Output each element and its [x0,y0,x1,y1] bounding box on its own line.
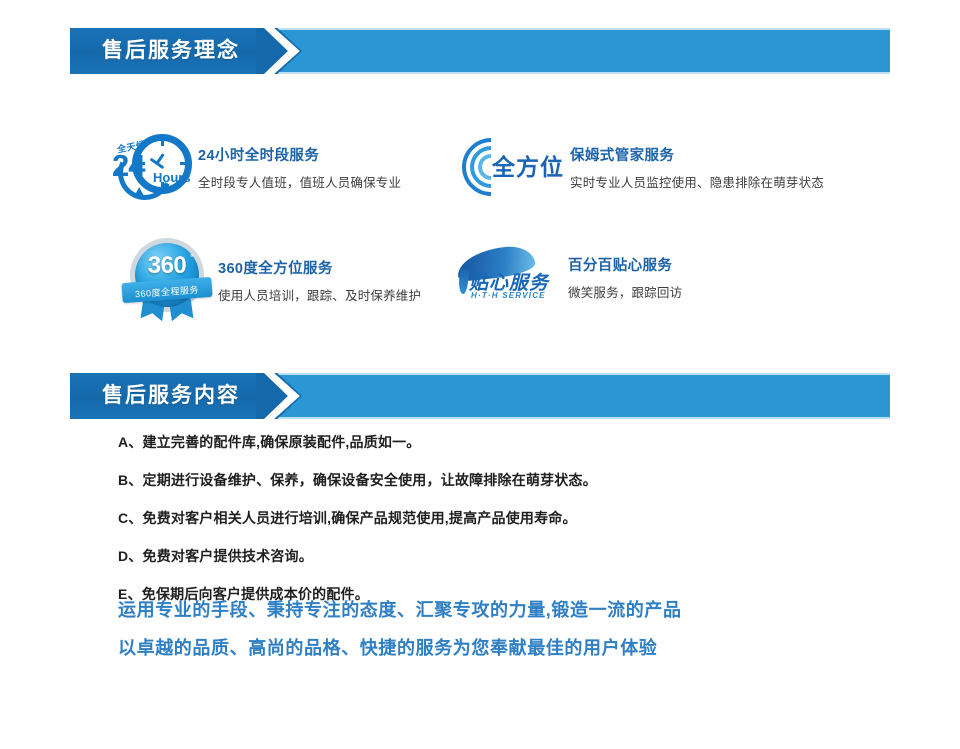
list-item: D、免费对客户提供技术咨询。 [118,546,878,566]
section-header-concept: 售后服务理念 [70,28,890,74]
slogan-block: 运用专业的手段、秉持专注的态度、汇聚专攻的力量,锻造一流的产品 以卓越的品质、高… [118,596,918,672]
service-content-list: A、建立完善的配件库,确保原装配件,品质如一。 B、定期进行设备维护、保养，确保… [118,432,878,622]
service-desc-omnidirectional: 实时专业人员监控使用、隐患排除在萌芽状态 [570,172,824,191]
service-title-omnidirectional: 保姆式管家服务 [570,144,824,165]
service-text-heartfelt: 百分百贴心服务 微笑服务，跟踪回访 [568,254,682,301]
clock-label-number: 24 [112,150,144,181]
service-title-24h: 24小时全时段服务 [198,144,401,165]
service-title-heartfelt: 百分百贴心服务 [568,254,682,275]
service-desc-heartfelt: 微笑服务，跟踪回访 [568,282,682,301]
logo-stem [458,268,470,295]
arcs-label: 全方位 [492,148,564,182]
service-title-360: 360度全方位服务 [218,257,421,278]
chevron-right-icon-2 [256,373,302,419]
logo-sublabel: H·T·H SERVICE [471,291,546,300]
clock-tick-right [180,162,188,165]
section-title-concept: 售后服务理念 [102,28,240,74]
chevron-right-icon [256,28,302,74]
badge-360-icon: 360 ° 360度全程服务 [118,238,218,322]
list-item: A、建立完善的配件库,确保原装配件,品质如一。 [118,432,878,452]
service-desc-24h: 全时段专人值班，值班人员确保专业 [198,172,401,191]
service-desc-360: 使用人员培训，跟踪、及时保养维护 [218,285,421,304]
service-text-360: 360度全方位服务 使用人员培训，跟踪、及时保养维护 [218,257,421,304]
clock-tick-top [161,138,164,146]
service-item-24h: 全天候 24 Hours 24小时全时段服务 全时段专人值班，值班人员确保专业 [112,132,401,202]
service-text-24h: 24小时全时段服务 全时段专人值班，值班人员确保专业 [198,144,401,191]
slogan-line-2: 以卓越的品质、高尚的品格、快捷的服务为您奉献最佳的用户体验 [118,634,918,660]
heartfelt-service-logo-icon: 贴心服务 H·T·H SERVICE [455,248,560,306]
service-item-heartfelt: 贴心服务 H·T·H SERVICE 百分百贴心服务 微笑服务，跟踪回访 [455,248,682,306]
section-title-content: 售后服务内容 [102,373,240,419]
clock-24-hours-icon: 全天候 24 Hours [112,132,198,202]
page-root: 售后服务理念 全天候 24 Hours 24小时全时段服务 全时段专人值班 [0,0,960,749]
list-item: C、免费对客户相关人员进行培训,确保产品规范使用,提高产品使用寿命。 [118,508,878,528]
list-item: B、定期进行设备维护、保养，确保设备安全使用，让故障排除在萌芽状态。 [118,470,878,490]
omnidirectional-arcs-icon: 全方位 [460,136,570,198]
service-item-omnidirectional: 全方位 保姆式管家服务 实时专业人员监控使用、隐患排除在萌芽状态 [460,136,824,198]
clock-label-hours: Hours [153,170,191,185]
service-text-omnidirectional: 保姆式管家服务 实时专业人员监控使用、隐患排除在萌芽状态 [570,144,824,191]
service-item-360: 360 ° 360度全程服务 360度全方位服务 使用人员培训，跟踪、及时保养维… [118,238,421,322]
section-header-content: 售后服务内容 [70,373,890,419]
badge-degree-symbol: ° [190,252,194,262]
slogan-line-1: 运用专业的手段、秉持专注的态度、汇聚专攻的力量,锻造一流的产品 [118,596,918,622]
